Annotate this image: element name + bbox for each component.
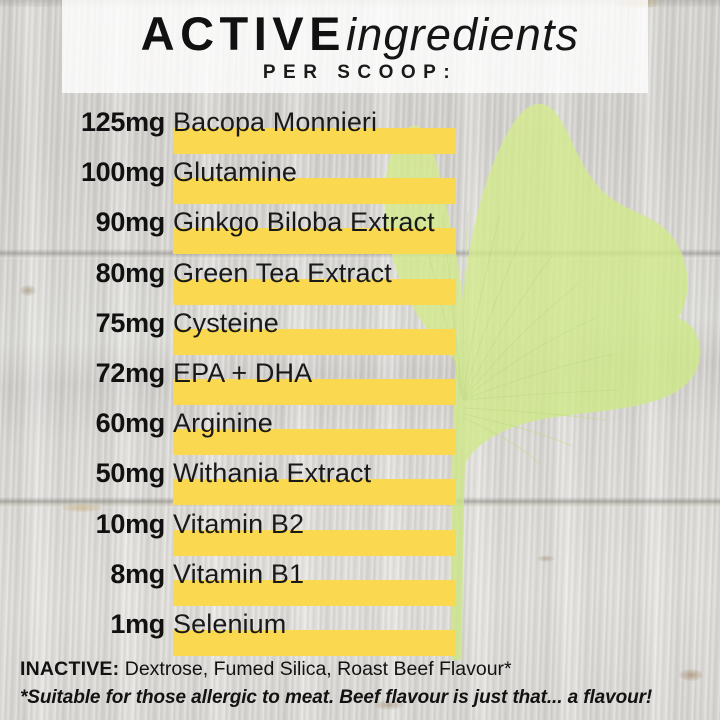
ingredient-row: 125mgBacopa Monnieri <box>0 104 720 154</box>
ingredient-row: 72mgEPA + DHA <box>0 355 720 405</box>
inactive-value: Dextrose, Fumed Silica, Roast Beef Flavo… <box>119 658 511 680</box>
ingredient-row: 100mgGlutamine <box>0 154 720 204</box>
ingredient-name: Arginine <box>173 405 273 441</box>
ingredient-amount: 72mg <box>0 355 165 391</box>
ingredient-row: 50mgWithania Extract <box>0 455 720 505</box>
ingredient-amount: 80mg <box>0 255 165 291</box>
ingredient-row: 10mgVitamin B2 <box>0 506 720 556</box>
ingredient-name: Cysteine <box>173 305 279 341</box>
ingredient-amount: 1mg <box>0 606 165 642</box>
ingredient-name: Selenium <box>173 606 286 642</box>
ingredient-name: Bacopa Monnieri <box>173 104 377 140</box>
ingredient-name: Green Tea Extract <box>173 255 392 291</box>
ingredient-row: 8mgVitamin B1 <box>0 556 720 606</box>
ingredient-row: 80mgGreen Tea Extract <box>0 255 720 305</box>
footnote: *Suitable for those allergic to meat. Be… <box>20 687 710 709</box>
ingredient-name: Vitamin B2 <box>173 506 304 542</box>
ingredient-list: 125mgBacopa Monnieri100mgGlutamine90mgGi… <box>0 0 720 720</box>
ingredient-amount: 8mg <box>0 556 165 592</box>
ingredient-name: EPA + DHA <box>173 355 312 391</box>
ingredient-row: 75mgCysteine <box>0 305 720 355</box>
inactive-label: INACTIVE: <box>20 658 119 680</box>
ingredient-amount: 125mg <box>0 104 165 140</box>
ingredient-name: Vitamin B1 <box>173 556 304 592</box>
ingredient-amount: 10mg <box>0 506 165 542</box>
ingredient-amount: 90mg <box>0 204 165 240</box>
ingredient-amount: 75mg <box>0 305 165 341</box>
ingredient-name: Glutamine <box>173 154 297 190</box>
ingredient-row: 90mgGinkgo Biloba Extract <box>0 204 720 254</box>
ingredient-amount: 50mg <box>0 455 165 491</box>
ingredient-row: 1mgSelenium <box>0 606 720 656</box>
ingredient-amount: 100mg <box>0 154 165 190</box>
inactive-ingredients-line: INACTIVE: Dextrose, Fumed Silica, Roast … <box>20 658 710 681</box>
ingredient-name: Withania Extract <box>173 455 371 491</box>
ingredient-row: 60mgArginine <box>0 405 720 455</box>
ingredient-name: Ginkgo Biloba Extract <box>173 204 435 240</box>
ingredient-amount: 60mg <box>0 405 165 441</box>
